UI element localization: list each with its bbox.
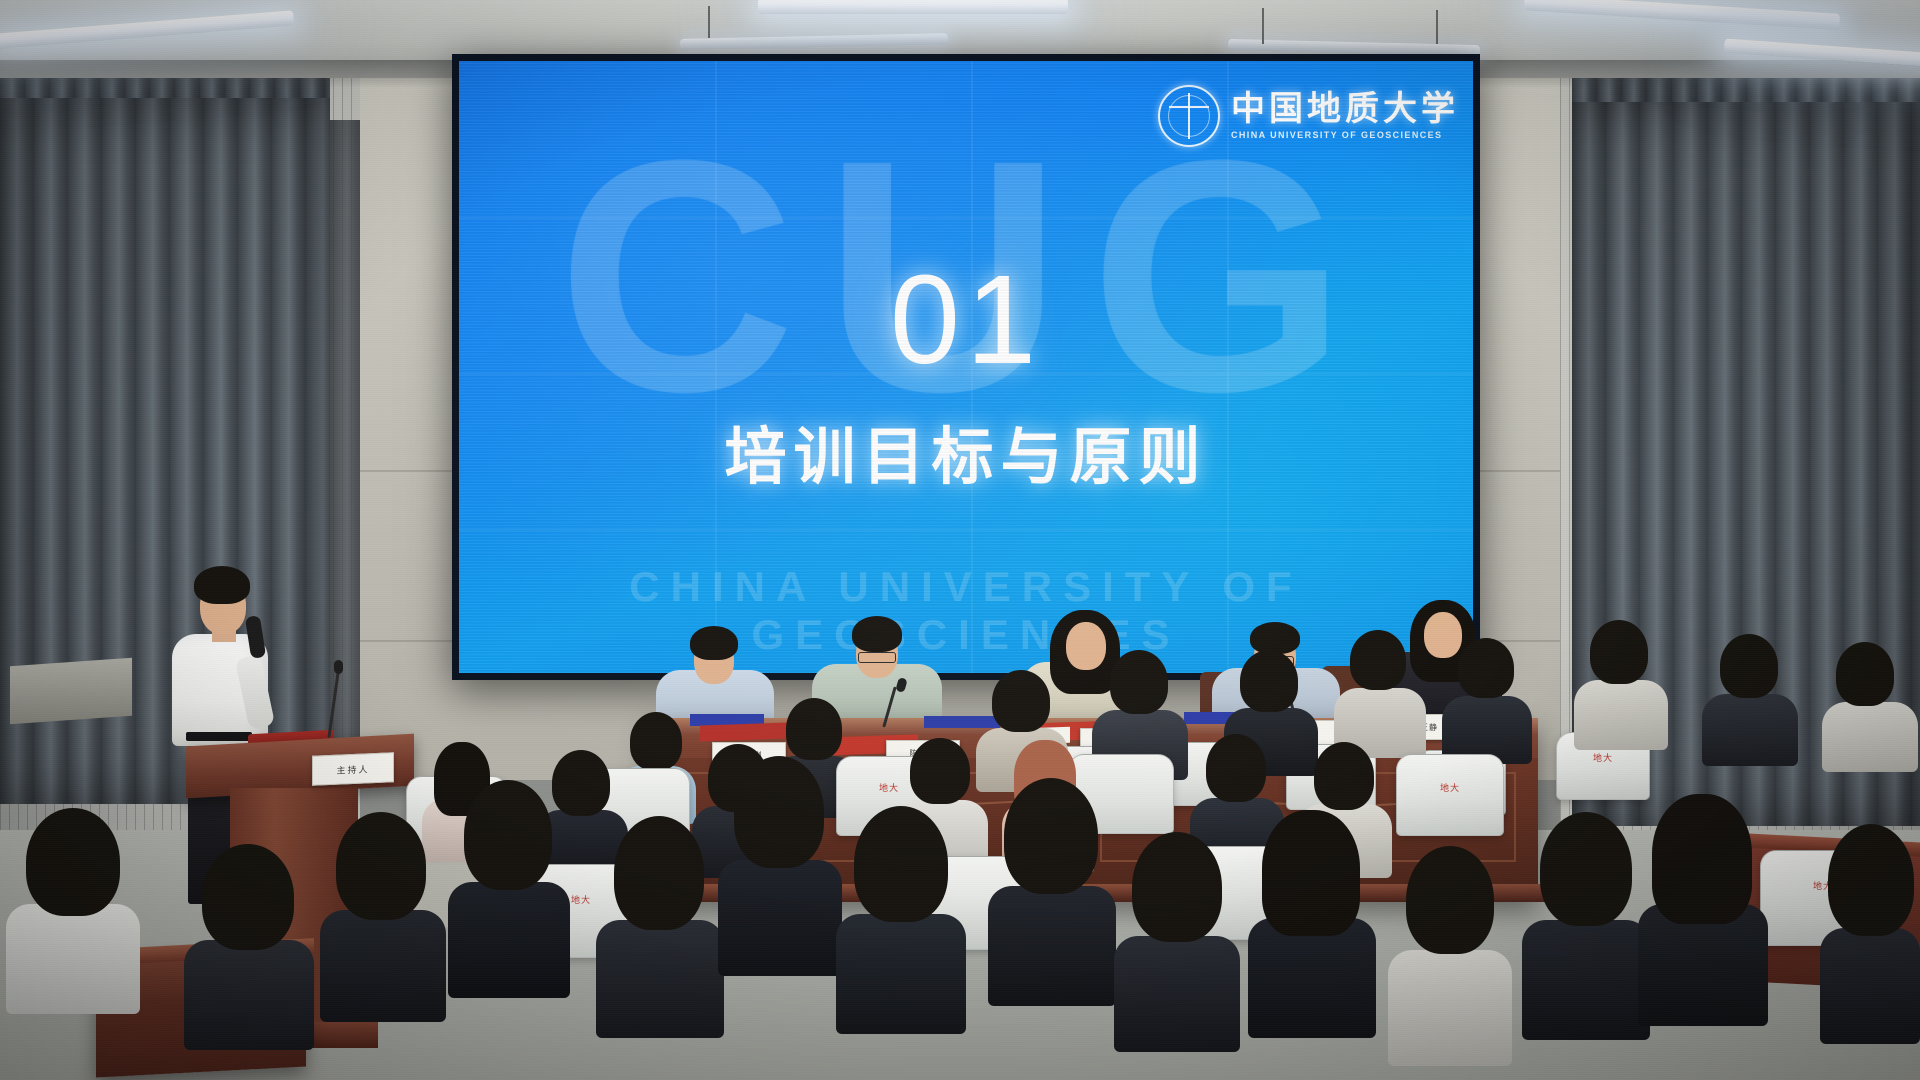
audience-member — [986, 778, 1118, 984]
audience-seat: 地大 — [1396, 754, 1504, 836]
audience-member — [1820, 642, 1920, 764]
university-name-en: CHINA UNIVERSITY OF GEOSCIENCES — [1231, 130, 1459, 140]
podium-microphone-head — [334, 660, 343, 674]
audience-member — [1332, 630, 1428, 750]
audience-member — [318, 812, 448, 1006]
led-screen-bezel: CUG CHINA UNIVERSITY OF GEOSCIENCES 中国地质… — [452, 54, 1480, 680]
audience-member — [4, 808, 144, 998]
audience-member — [594, 816, 726, 1016]
light-stem — [1262, 8, 1264, 44]
lecture-hall-scene: CUG CHINA UNIVERSITY OF GEOSCIENCES 中国地质… — [0, 0, 1920, 1080]
glasses-icon — [858, 652, 896, 663]
university-name-cn: 中国地质大学 — [1231, 92, 1459, 128]
audience-member — [182, 844, 318, 1034]
audience-member — [446, 780, 572, 980]
audience-member — [1440, 638, 1534, 756]
audience-member — [1520, 812, 1652, 1018]
light-stem — [708, 6, 710, 38]
audience-member — [716, 756, 844, 956]
ceiling-light — [758, 0, 1068, 14]
audience-member — [1090, 650, 1190, 770]
audience-member — [1700, 634, 1800, 758]
cug-emblem-icon — [1158, 85, 1220, 147]
light-stem — [1436, 10, 1438, 44]
audience-member — [1636, 794, 1770, 1004]
university-logo: 中国地质大学 CHINA UNIVERSITY OF GEOSCIENCES — [1158, 85, 1459, 147]
audience-member — [1572, 620, 1670, 744]
seat-marking: 地大 — [1593, 751, 1613, 764]
audience-area: 地大 地大 — [0, 760, 1920, 1080]
presenter-hair — [194, 566, 250, 604]
presentation-slide: CUG CHINA UNIVERSITY OF GEOSCIENCES 中国地质… — [459, 61, 1473, 673]
side-lectern — [10, 658, 132, 725]
seat-marking: 地大 — [571, 893, 591, 906]
audience-member — [1386, 846, 1514, 1046]
audience-member — [1818, 824, 1920, 1024]
audience-member — [1246, 810, 1378, 1016]
seat-marking: 地大 — [1440, 781, 1460, 794]
audience-member — [1112, 832, 1242, 1032]
audience-member — [834, 806, 968, 1012]
slide-section-title: 培训目标与原则 — [459, 406, 1473, 496]
slide-section-number: 01 — [459, 257, 1473, 383]
